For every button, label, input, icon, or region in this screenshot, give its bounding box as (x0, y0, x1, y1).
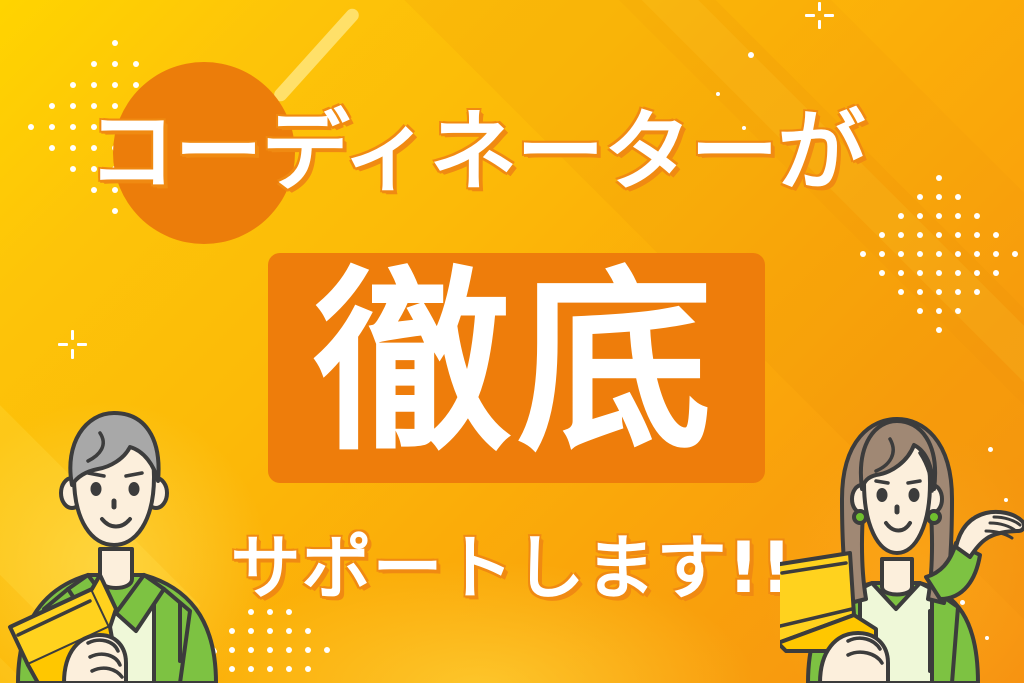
headline-line-1: 専任 コーディネーターが (0, 96, 1024, 208)
headline-main-text: コーディネーターが (88, 108, 865, 196)
closing-text: サポートします!! (231, 533, 794, 603)
banner-canvas: 専任 コーディネーターが 徹底 サポートします!! (0, 0, 1024, 683)
emphasis-text: 徹底 (314, 266, 718, 462)
emphasis-box: 徹底 (268, 253, 765, 483)
female-coordinator-illustration (780, 403, 1024, 683)
accent-dot (748, 52, 754, 58)
light-streak-icon (272, 6, 362, 104)
male-coordinator-illustration (4, 403, 234, 683)
